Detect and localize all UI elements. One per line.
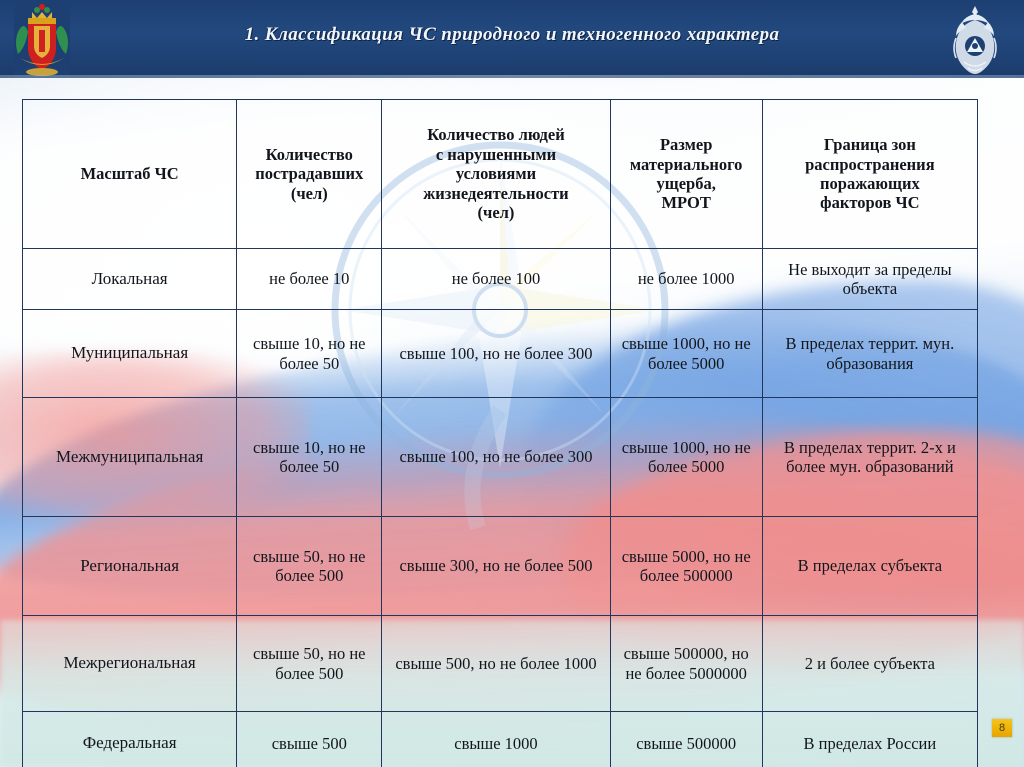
header-line: МРОТ [618, 193, 755, 212]
header-line: с нарушенными [389, 145, 602, 164]
header-line: Количество [244, 145, 374, 164]
header-line: поражающих [770, 174, 970, 193]
cell-scale: Региональная [23, 517, 237, 616]
header-line: Масштаб ЧС [30, 164, 229, 183]
header-line: факторов ЧС [770, 193, 970, 212]
cell-scale: Межмуниципальная [23, 398, 237, 517]
cell-victims: свыше 10, но не более 50 [237, 310, 382, 398]
column-header-scale: Масштаб ЧС [23, 100, 237, 249]
cell-damage: не более 1000 [610, 249, 762, 310]
cell-disrupted: свыше 300, но не более 500 [382, 517, 610, 616]
header-line: Размер [618, 135, 755, 154]
cell-scale: Федеральная [23, 712, 237, 767]
cell-zone: В пределах субъекта [762, 517, 977, 616]
cell-disrupted: свыше 100, но не более 300 [382, 310, 610, 398]
cell-disrupted: свыше 100, но не более 300 [382, 398, 610, 517]
cell-damage: свыше 500000, но не более 5000000 [610, 616, 762, 712]
cell-disrupted: не более 100 [382, 249, 610, 310]
page-number-badge: 8 [992, 719, 1012, 737]
cell-scale: Межрегиональная [23, 616, 237, 712]
slide-canvas: 1. Классификация ЧС природного и техноге… [0, 0, 1024, 767]
header-line: пострадавших [244, 164, 374, 183]
cell-damage: свыше 500000 [610, 712, 762, 767]
chs-classification-table: Масштаб ЧС Количество пострадавших (чел)… [22, 99, 978, 767]
cell-disrupted: свыше 1000 [382, 712, 610, 767]
table-header-row: Масштаб ЧС Количество пострадавших (чел)… [23, 100, 978, 249]
cell-zone: 2 и более субъекта [762, 616, 977, 712]
cell-scale: Локальная [23, 249, 237, 310]
header-line: условиями [389, 164, 602, 183]
header-line: ущерба, [618, 174, 755, 193]
slide-header-banner: 1. Классификация ЧС природного и техноге… [0, 0, 1024, 78]
cell-victims: не более 10 [237, 249, 382, 310]
table-row: Межрегиональная свыше 50, но не более 50… [23, 616, 978, 712]
table-row: Муниципальная свыше 10, но не более 50 с… [23, 310, 978, 398]
header-line: материального [618, 155, 755, 174]
page-title: 1. Классификация ЧС природного и техноге… [0, 24, 1024, 46]
table-body: Локальная не более 10 не более 100 не бо… [23, 249, 978, 767]
emercom-eagle-emblem-icon [942, 2, 1008, 78]
cell-victims: свыше 50, но не более 500 [237, 616, 382, 712]
header-line: (чел) [244, 184, 374, 203]
cell-zone: В пределах террит. мун. образования [762, 310, 977, 398]
table-row: Межмуниципальная свыше 10, но не более 5… [23, 398, 978, 517]
cell-damage: свыше 1000, но не более 5000 [610, 310, 762, 398]
column-header-zone: Граница зон распространения поражающих ф… [762, 100, 977, 249]
table-row: Федеральная свыше 500 свыше 1000 свыше 5… [23, 712, 978, 767]
header-line: Количество людей [389, 125, 602, 144]
table-header: Масштаб ЧС Количество пострадавших (чел)… [23, 100, 978, 249]
cell-zone: Не выходит за пределы объекта [762, 249, 977, 310]
cell-disrupted: свыше 500, но не более 1000 [382, 616, 610, 712]
column-header-damage: Размер материального ущерба, МРОТ [610, 100, 762, 249]
table-row: Региональная свыше 50, но не более 500 с… [23, 517, 978, 616]
cell-scale: Муниципальная [23, 310, 237, 398]
header-line: Граница зон [770, 135, 970, 154]
table-row: Локальная не более 10 не более 100 не бо… [23, 249, 978, 310]
cell-victims: свыше 10, но не более 50 [237, 398, 382, 517]
header-line: (чел) [389, 203, 602, 222]
header-line: распространения [770, 155, 970, 174]
cell-zone: В пределах России [762, 712, 977, 767]
cell-zone: В пределах террит. 2-х и более мун. обра… [762, 398, 977, 517]
cell-victims: свыше 50, но не более 500 [237, 517, 382, 616]
cell-damage: свыше 1000, но не более 5000 [610, 398, 762, 517]
classification-table-wrapper: Масштаб ЧС Количество пострадавших (чел)… [22, 99, 978, 767]
cell-victims: свыше 500 [237, 712, 382, 767]
column-header-disrupted: Количество людей с нарушенными условиями… [382, 100, 610, 249]
header-line: жизнедеятельности [389, 184, 602, 203]
cell-damage: свыше 5000, но не более 500000 [610, 517, 762, 616]
column-header-victims: Количество пострадавших (чел) [237, 100, 382, 249]
